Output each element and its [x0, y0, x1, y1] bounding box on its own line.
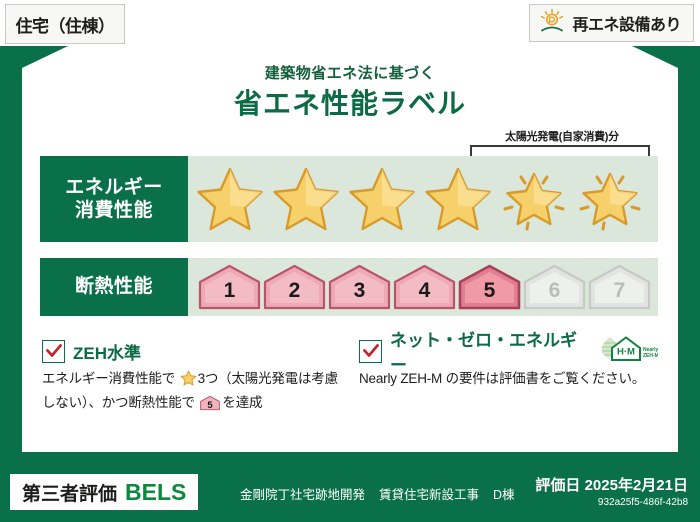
insulation-level-6: 6 [523, 264, 586, 310]
svg-text:H·M: H·M [617, 346, 635, 357]
star-1 [192, 161, 268, 237]
insulation-level-5-achieved: 5 [458, 264, 521, 310]
criterion-body: エネルギー消費性能で 3つ（太陽光発電は考慮しない）、かつ断熱性能で 5 を達成 [42, 369, 341, 417]
bels-jp-label: 第三者評価 [22, 479, 117, 506]
criteria-section: ZEH水準 エネルギー消費性能で 3つ（太陽光発電は考慮しない）、かつ断熱性能で… [42, 338, 658, 436]
building-name: D棟 [493, 484, 515, 503]
evaluation-date: 評価日 2025年2月21日 [535, 474, 688, 495]
level-number: 5 [484, 280, 496, 310]
solar-bracket [470, 145, 650, 156]
insulation-level-1: 1 [198, 264, 261, 310]
criterion-header: ネット・ゼロ・エネルギー H·M Nea [359, 338, 658, 364]
level-number: 4 [419, 280, 431, 310]
svg-text:ZEH-M: ZEH-M [643, 353, 658, 359]
bels-logo-box: 第三者評価 BELS [10, 474, 198, 510]
category-tab: 住宅（住棟） [5, 4, 125, 44]
criterion-header: ZEH水準 [42, 338, 341, 364]
level-number: 3 [354, 280, 366, 310]
star-6-solar [572, 161, 648, 237]
insulation-level-4: 4 [393, 264, 456, 310]
top-strip: 住宅（住棟） 再エネ設備あり [0, 0, 700, 46]
energy-rating-row: エネルギー 消費性能 太陽光発電(自家消費)分 [40, 156, 658, 242]
star-4 [420, 161, 496, 237]
energy-performance-label: 住宅（住棟） 再エネ設備あり 建 [0, 0, 700, 522]
project-name: 金剛院丁社宅跡地開発 [240, 484, 365, 503]
energy-stars-area: 太陽光発電(自家消費)分 [188, 156, 658, 242]
level-number: 1 [224, 280, 236, 310]
bels-en-label: BELS [125, 479, 186, 506]
criterion-title: ZEH水準 [73, 339, 141, 364]
star-3 [344, 161, 420, 237]
work-type: 賃貸住宅新設工事 [379, 484, 479, 503]
zeh-standard-checkbox[interactable] [42, 340, 65, 363]
criterion-body: Nearly ZEH-M の要件は評価書をご覧ください。 [359, 369, 658, 390]
insulation-levels-area: 1 2 3 [188, 258, 658, 316]
insulation-level-3: 3 [328, 264, 391, 310]
star-2 [268, 161, 344, 237]
svg-text:5: 5 [208, 399, 214, 410]
sun-energy-icon [538, 8, 566, 39]
criterion-body-pre: エネルギー消費性能で [42, 371, 175, 386]
page-title: 省エネ性能ラベル [22, 82, 678, 122]
zeh-m-logo: H·M Nearly ZEH-M [596, 334, 658, 369]
insulation-rating-label: 断熱性能 [40, 258, 188, 316]
renewable-badge-label: 再エネ設備あり [572, 11, 681, 35]
title-sub: 建築物省エネ法に基づく [22, 62, 678, 83]
solar-note-label: 太陽光発電(自家消費)分 [472, 128, 652, 144]
inline-star-icon [176, 374, 197, 389]
main-panel: 建築物省エネ法に基づく 省エネ性能ラベル エネルギー 消費性能 太陽光発電(自家… [22, 46, 678, 452]
criterion-body-post: を達成 [222, 395, 262, 410]
evaluation-info: 評価日 2025年2月21日 932a25f5-486f-42b8 [535, 474, 688, 508]
insulation-level-2: 2 [263, 264, 326, 310]
level-number: 7 [614, 280, 626, 310]
net-zero-energy-checkbox[interactable] [359, 340, 382, 363]
insulation-level-7: 7 [588, 264, 651, 310]
criterion-net-zero-energy: ネット・ゼロ・エネルギー H·M Nea [359, 338, 658, 436]
evaluation-id: 932a25f5-486f-42b8 [535, 497, 688, 508]
star-5-solar [496, 161, 572, 237]
level-number: 6 [549, 280, 561, 310]
footer-bar: 第三者評価 BELS 金剛院丁社宅跡地開発 賃貸住宅新設工事 D棟 評価日 20… [0, 466, 700, 522]
level-number: 2 [289, 280, 301, 310]
renewable-energy-badge: 再エネ設備あり [529, 4, 694, 42]
project-info: 金剛院丁社宅跡地開発 賃貸住宅新設工事 D棟 [240, 484, 515, 503]
insulation-rating-row: 断熱性能 1 2 [40, 258, 658, 316]
energy-rating-label: エネルギー 消費性能 [40, 156, 188, 242]
criterion-zeh-standard: ZEH水準 エネルギー消費性能で 3つ（太陽光発電は考慮しない）、かつ断熱性能で… [42, 338, 341, 436]
inline-house-badge: 5 [197, 399, 221, 414]
